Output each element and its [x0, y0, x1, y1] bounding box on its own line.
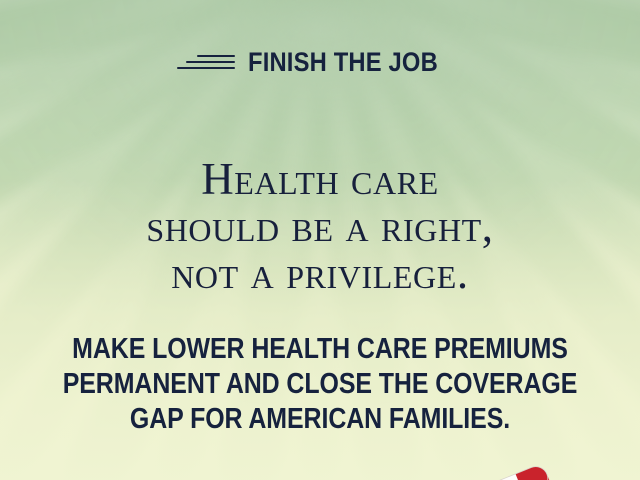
- speed-lines-icon: [177, 55, 235, 70]
- poster-canvas: FINISH THE JOB Health care should be a r…: [0, 0, 640, 480]
- subhead-block: MAKE LOWER HEALTH CARE PREMIUMS PERMANEN…: [0, 332, 640, 437]
- headline-block: Health care should be a right, not a pri…: [0, 156, 640, 297]
- subhead-line-3: GAP FOR AMERICAN FAMILIES.: [45, 402, 595, 437]
- headline-line-2: should be a right,: [0, 203, 640, 250]
- headline-line-3: not a privilege.: [0, 250, 640, 297]
- header-lockup: FINISH THE JOB: [0, 49, 640, 76]
- subhead-line-1: MAKE LOWER HEALTH CARE PREMIUMS: [45, 332, 595, 367]
- subhead-line-2: PERMANENT AND CLOSE THE COVERAGE: [45, 367, 595, 402]
- headline-line-1: Health care: [0, 156, 640, 203]
- poster-content: FINISH THE JOB Health care should be a r…: [0, 0, 640, 480]
- brand-wordmark: FINISH THE JOB: [248, 49, 438, 76]
